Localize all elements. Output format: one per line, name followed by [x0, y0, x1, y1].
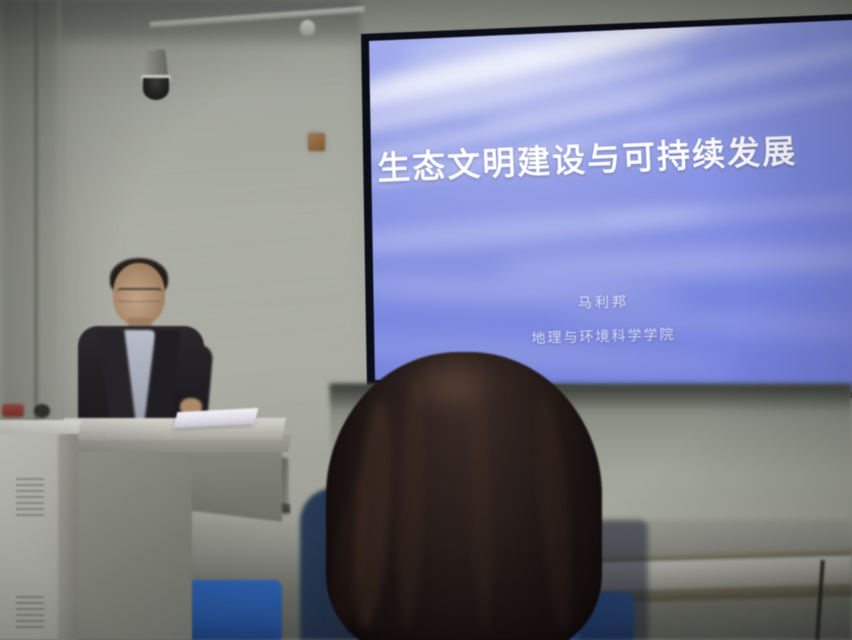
cabinet-louver	[16, 626, 44, 628]
cabinet-louver	[16, 596, 44, 598]
cabinet-louver	[16, 614, 44, 616]
cabinet-louver	[16, 514, 44, 516]
wall-seam	[34, 0, 38, 430]
title-slide: 生态文明建设与可持续发展 马利邦 地理与环境科学学院	[355, 14, 852, 402]
dark-knob	[34, 404, 50, 418]
wall-outlet-icon	[308, 133, 325, 151]
blue-chair-left	[186, 580, 282, 640]
cabinet-louver	[16, 620, 44, 622]
projection-screen: 生态文明建设与可持续发展 马利邦 地理与环境科学学院	[355, 14, 852, 402]
cabinet-louver	[16, 484, 44, 486]
cabinet-louver	[16, 496, 44, 498]
cabinet-louver	[16, 490, 44, 492]
dome-camera-icon	[143, 78, 169, 100]
lecture-hall-photo: 生态文明建设与可持续发展 马利邦 地理与环境科学学院	[0, 0, 852, 640]
conduit-clip	[300, 20, 315, 36]
eyeglasses-icon	[117, 288, 162, 302]
cloud-streak	[495, 243, 852, 283]
red-equipment-box	[2, 404, 24, 417]
cabinet-louver	[16, 502, 44, 504]
wall-seam-secondary	[58, 0, 61, 420]
cabinet-louver	[16, 602, 44, 604]
podium-front	[72, 448, 192, 640]
hair-highlight	[400, 356, 500, 416]
cabinet-edge	[58, 430, 78, 640]
cabinet-top	[0, 420, 81, 434]
cabinet-louver	[16, 608, 44, 610]
cabinet-louver	[16, 508, 44, 510]
cabinet-louver	[16, 478, 44, 480]
